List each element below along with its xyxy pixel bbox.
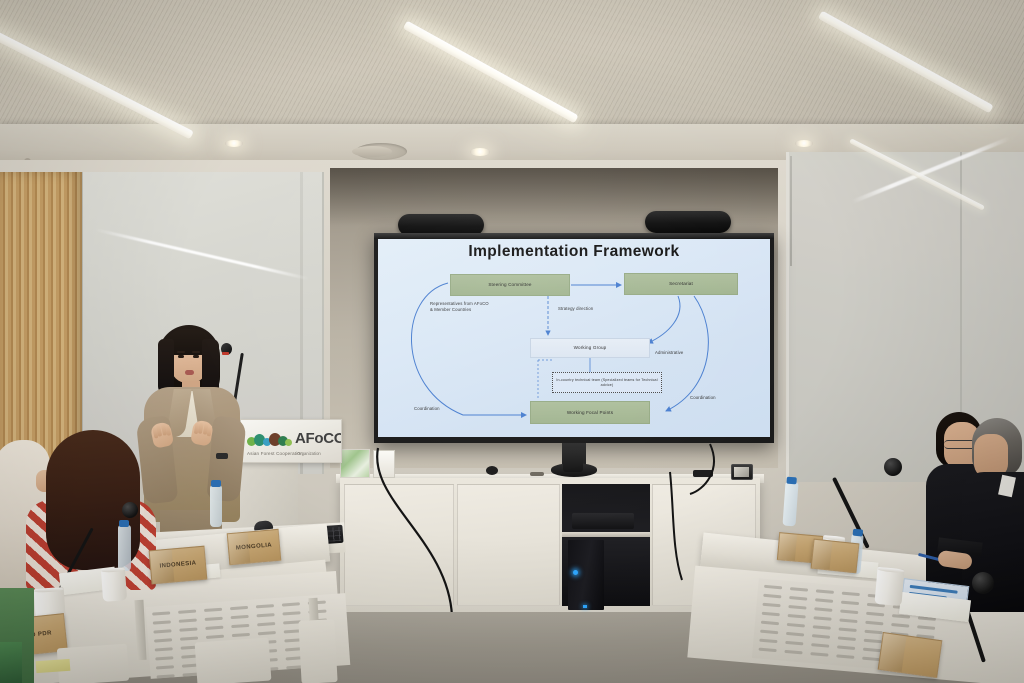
bottle-cap: [119, 520, 129, 527]
panel-slat: [811, 643, 829, 648]
ceiling-downlight-2: [470, 148, 490, 156]
diagram-box-in-country-team: In-country technical team (Specialized t…: [552, 372, 662, 393]
ceiling-downlight-1: [225, 140, 243, 147]
table-mic-head-right: [884, 458, 902, 476]
nameplate-mongolia: MONGOLIA: [227, 529, 282, 565]
panel-slat: [786, 632, 804, 637]
paper-cup-right-1: [874, 567, 904, 606]
diagram-label-strategy-direction: Strategy direction: [558, 306, 593, 312]
panel-slat: [230, 606, 248, 610]
table-mic-head-right-2: [972, 572, 994, 594]
panel-slat: [863, 648, 881, 653]
panel-slat: [152, 611, 170, 615]
panel-slat: [762, 612, 780, 617]
panel-slat: [762, 603, 780, 608]
panel-slat: [815, 598, 833, 603]
panel-slat: [179, 628, 197, 632]
panel-slat: [788, 605, 806, 610]
diagram-box-working-focal-points: Working Focal Points: [530, 401, 650, 424]
yellow-tag: [36, 659, 71, 673]
panel-slat: [816, 589, 834, 594]
bottle-cap: [211, 480, 221, 487]
panel-slat: [838, 636, 856, 641]
panel-slat: [813, 625, 831, 630]
panel-slat: [154, 638, 172, 642]
panel-slat: [917, 625, 935, 630]
panel-slat: [256, 604, 274, 608]
panel-slat: [156, 665, 174, 669]
presenter-finger: [207, 425, 213, 437]
logo-dot-6: [285, 439, 292, 446]
panel-slat: [232, 633, 250, 637]
slide-canvas: Implementation Framework: [378, 238, 770, 437]
logo-wordmark: AFoCO: [295, 430, 342, 447]
nameplate-fold: [812, 540, 832, 570]
panel-slat: [810, 652, 828, 657]
panel-slat: [204, 608, 222, 612]
nameplate-fold: [150, 550, 174, 584]
panel-slat: [836, 654, 854, 659]
panel-slat: [257, 622, 275, 626]
presenter-eye-right: [193, 355, 199, 358]
diagram-box-steering-committee: Steering Committee: [450, 274, 570, 296]
panel-slat: [180, 636, 198, 640]
panel-slat: [788, 614, 806, 619]
logo-subtitle-2: Organization: [297, 451, 321, 456]
panel-slat: [864, 630, 882, 635]
panel-slat: [842, 592, 860, 597]
panel-slat: [839, 619, 857, 624]
panel-slat: [837, 645, 855, 650]
panel-slat: [812, 634, 830, 639]
water-bottle-left: [118, 525, 131, 571]
nameplate-fold: [778, 533, 797, 560]
ceiling-air-vent-inner: [352, 146, 392, 157]
panel-slat: [891, 623, 909, 628]
cup-rim: [101, 567, 125, 573]
nameplate-fold: [879, 633, 907, 672]
wood-slat-panel: [0, 172, 82, 472]
panel-slat: [179, 619, 197, 623]
panel-slat: [763, 594, 781, 599]
panel-slat: [839, 627, 857, 632]
panel-slat: [282, 611, 300, 615]
panel-slat: [865, 621, 883, 626]
panel-slat: [764, 585, 782, 590]
panel-slat: [862, 657, 880, 662]
presentation-display[interactable]: Implementation Framework: [374, 233, 774, 443]
presenter-mouth: [185, 370, 194, 375]
panel-slat: [257, 613, 275, 617]
presenter-eye-left: [178, 355, 184, 358]
panel-slat: [205, 617, 223, 621]
presenter-wristwatch: [216, 453, 228, 459]
panel-slat: [790, 587, 808, 592]
panel-slat: [205, 626, 223, 630]
cup-rim: [34, 587, 64, 593]
panel-slat: [760, 630, 778, 635]
panel-slat: [231, 615, 249, 619]
panel-slat: [759, 648, 777, 653]
panel-slat: [841, 601, 859, 606]
panel-slat: [814, 607, 832, 612]
panel-slat: [787, 623, 805, 628]
panel-slat: [178, 610, 196, 614]
panel-slat: [866, 612, 884, 617]
panel-slat: [789, 596, 807, 601]
panel-slat: [155, 647, 173, 651]
ceiling-downlight-3: [795, 140, 813, 147]
diagram-box-working-group: Working Group: [530, 338, 650, 358]
diagram-label-administrative: Administrative: [655, 350, 683, 356]
chair-3: [298, 619, 337, 683]
diagram-label-coordination-left: Coordination: [414, 406, 440, 412]
panel-slat: [231, 624, 249, 628]
nameplate-right-3: [878, 632, 943, 678]
panel-slat: [785, 641, 803, 646]
blind-rod: [790, 156, 792, 266]
paper-cup-left-2: [101, 567, 127, 602]
panel-slat: [258, 631, 276, 635]
panel-slat: [840, 610, 858, 615]
ceiling-speaker-right: [645, 211, 731, 233]
chair-2: [195, 637, 272, 683]
presenter-brow-left: [177, 351, 185, 353]
panel-slat: [206, 635, 224, 639]
display-bezel: [374, 233, 774, 239]
conference-room-photo: Implementation Framework: [0, 0, 1024, 683]
water-bottle-desk: [210, 485, 222, 527]
nameplate-fold: [228, 532, 251, 564]
panel-slat: [282, 602, 300, 606]
panel-slat: [761, 621, 779, 626]
panel-slat: [759, 639, 777, 644]
bottle-cap: [853, 529, 864, 537]
diagram-label-coordination-right: Coordination: [690, 395, 716, 401]
panel-slat: [153, 620, 171, 624]
panel-slat: [864, 639, 882, 644]
presenter-brow-right: [192, 351, 200, 353]
diagram-box-secretariat: Secretariat: [624, 273, 738, 295]
nameplate-right-2: [811, 539, 860, 574]
table-mic-head-left: [122, 502, 138, 518]
panel-slat: [155, 656, 173, 660]
panel-slat: [784, 650, 802, 655]
bottle-cap: [786, 477, 796, 485]
nameplate-indonesia: INDONESIA: [149, 546, 208, 585]
panel-slat: [153, 629, 171, 633]
foreground-green-object-2: [0, 642, 22, 683]
diagram-label-representatives: Representatives from AFoCO & Member Coun…: [430, 301, 490, 313]
panel-slat: [813, 616, 831, 621]
